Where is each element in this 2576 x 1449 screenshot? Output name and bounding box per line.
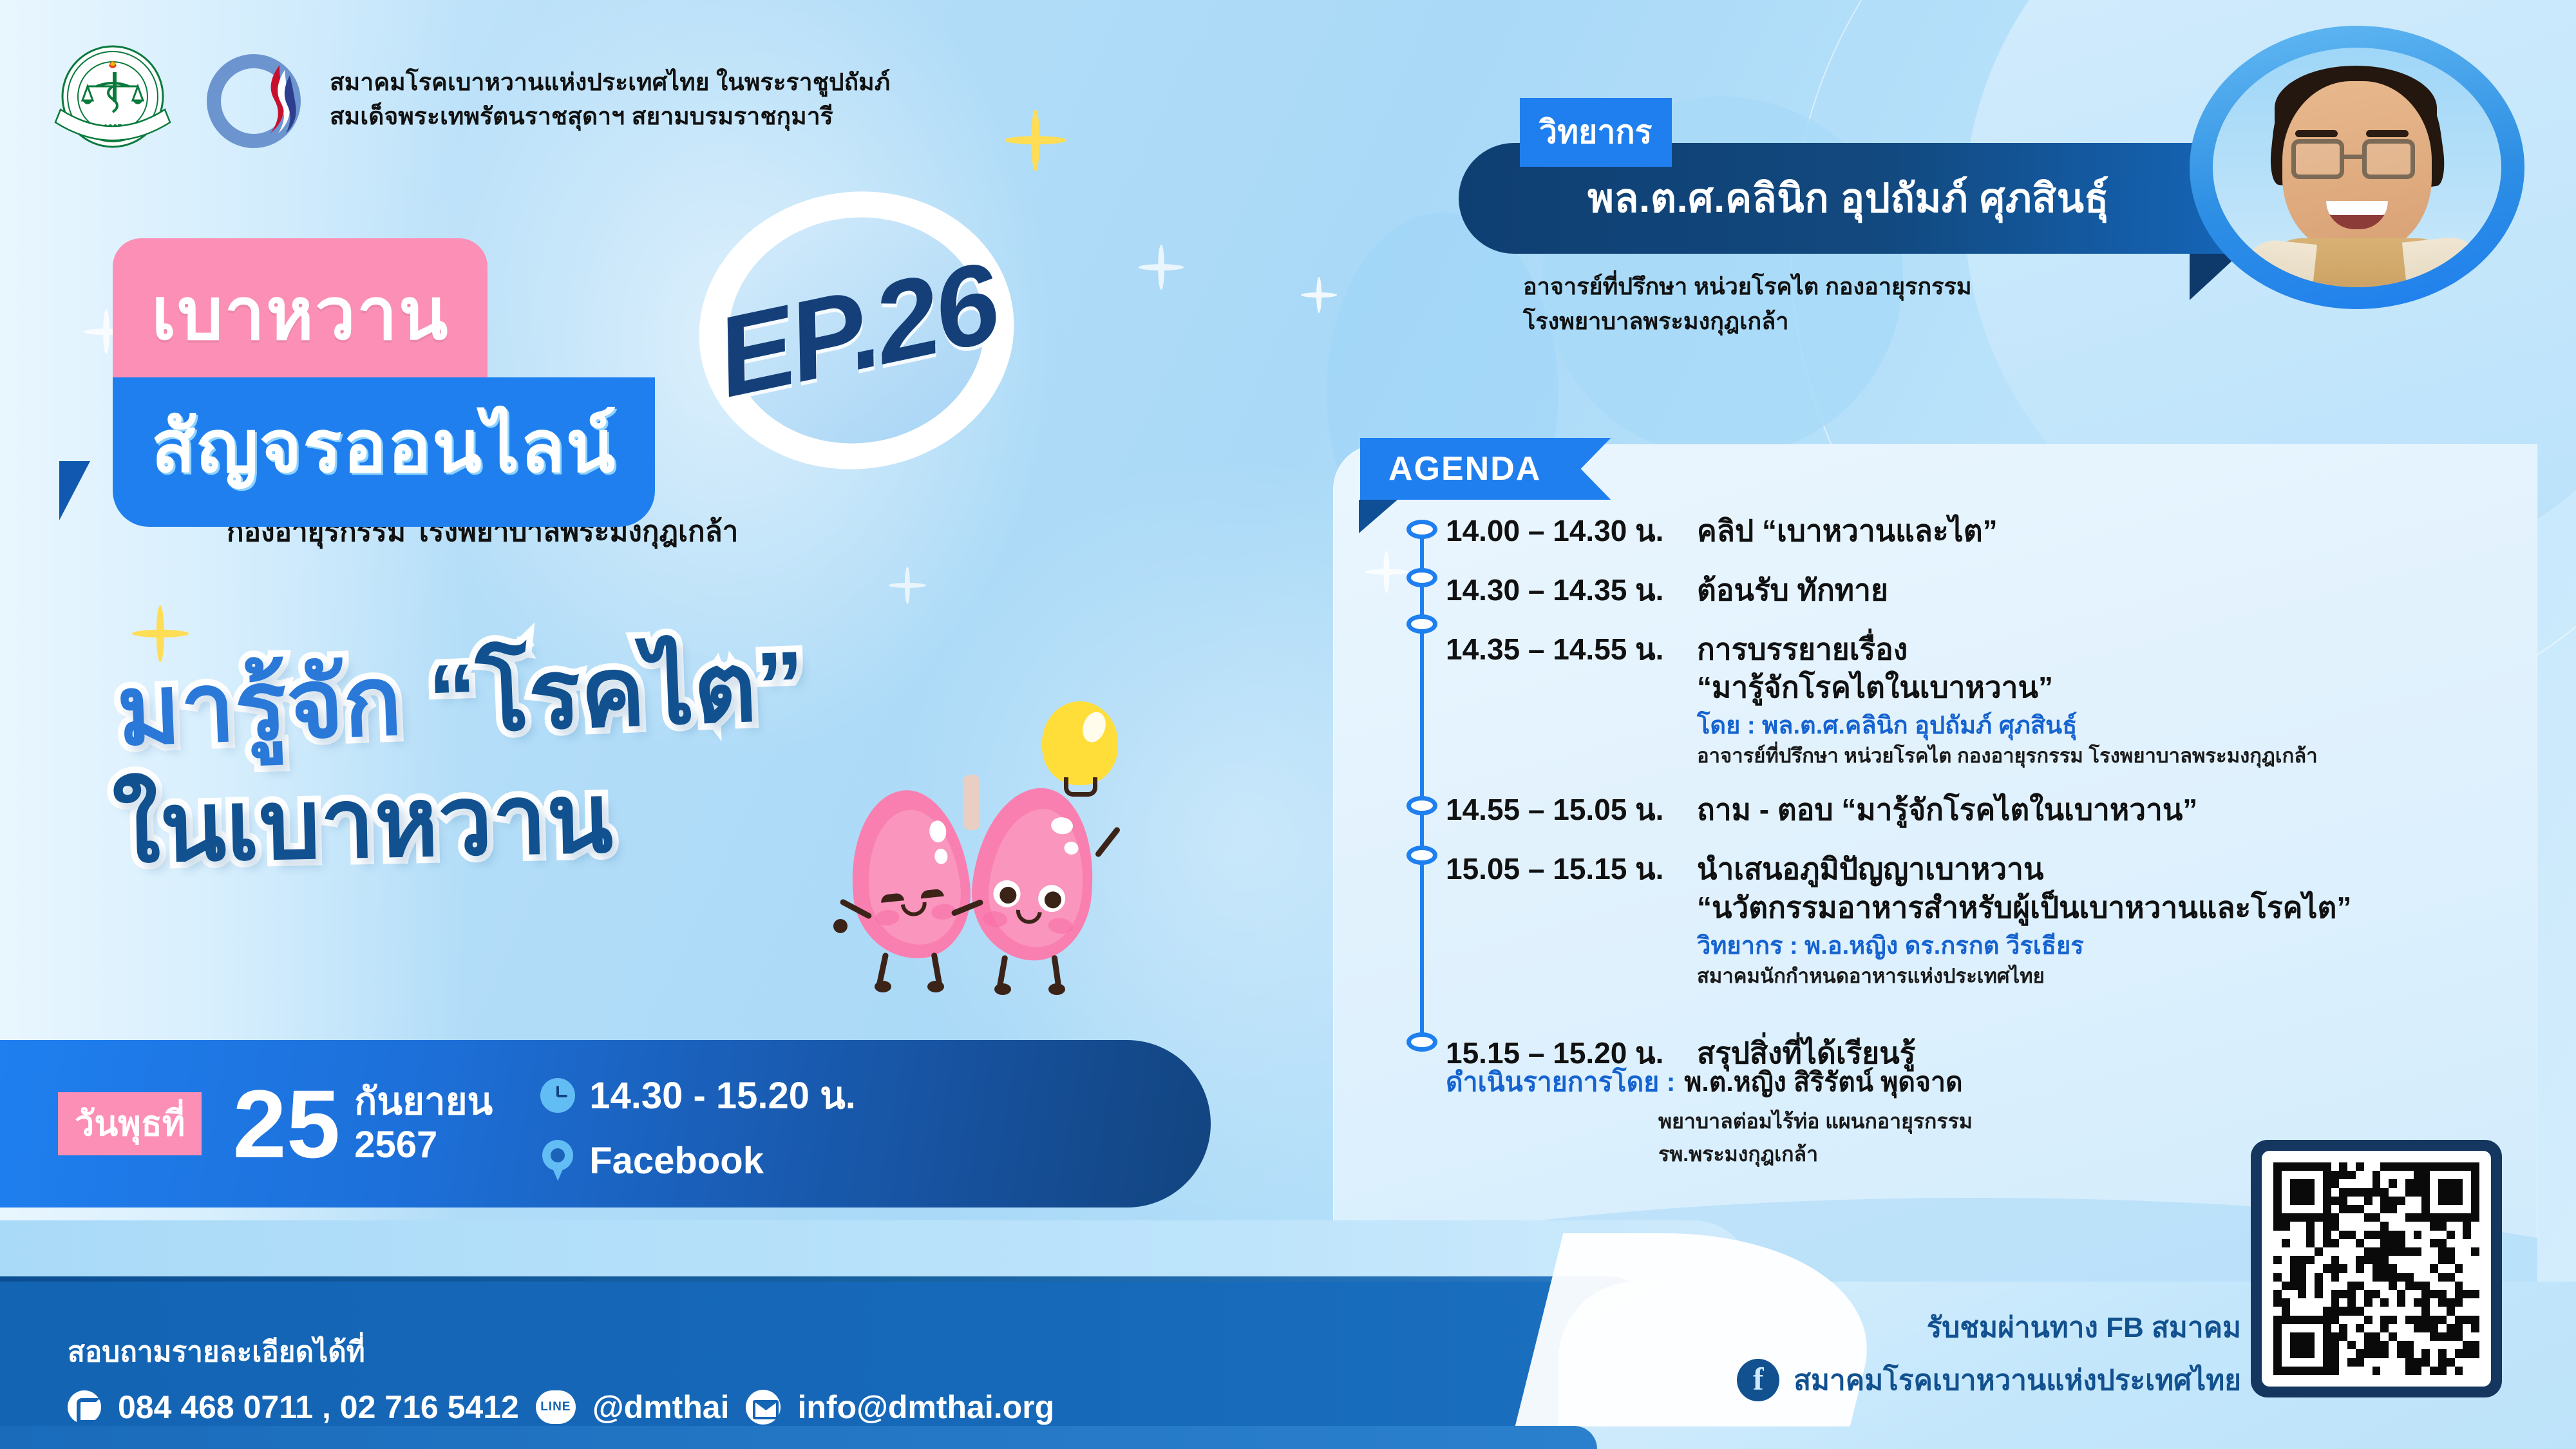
timeline-dot bbox=[1406, 614, 1437, 634]
episode-number: EP.26 bbox=[674, 162, 1040, 498]
footer-contact-block: สอบถามรายละเอียดได้ที่ 084 468 0711 , 02… bbox=[68, 1329, 1054, 1426]
qr-code[interactable] bbox=[2251, 1140, 2502, 1397]
speaker-role-line-2: โรงพยาบาลพระมงกุฎเกล้า bbox=[1523, 304, 1972, 339]
poster-canvas: 1965 สมาคมโรคเบาหวานแห่งประเทศไทย ในพระร… bbox=[0, 0, 2576, 1449]
timeline-dot bbox=[1406, 520, 1437, 539]
event-time: 14.30 - 15.20 น. bbox=[589, 1065, 856, 1125]
agenda-speaker-affiliation: อาจารย์ที่ปรึกษา หน่วยโรคไต กองอายุรกรรม… bbox=[1697, 743, 2553, 770]
moderator-affiliation-1: พยาบาลต่อมไร้ท่อ แผนกอายุรกรรม bbox=[1658, 1107, 2541, 1136]
diabetes-association-of-thailand-logo: 1965 bbox=[45, 32, 180, 167]
moderator-label: ดำเนินรายการโดย : bbox=[1446, 1061, 1675, 1103]
watch-line-1: รับชมผ่านทาง FB สมาคม bbox=[1737, 1305, 2241, 1350]
contact-row: 084 468 0711 , 02 716 5412 LINE @dmthai … bbox=[68, 1388, 1054, 1426]
title-blue-pill: สัญจรออนไลน์ bbox=[113, 377, 655, 527]
speaker-role: อาจารย์ที่ปรึกษา หน่วยโรคไต กองอายุรกรรม… bbox=[1523, 269, 1972, 339]
mascot-foot bbox=[875, 981, 891, 992]
trachea-shape bbox=[963, 775, 980, 830]
line-badge-text: LINE bbox=[540, 1400, 571, 1414]
event-channel: Facebook bbox=[589, 1139, 764, 1182]
pin-hole bbox=[551, 1148, 565, 1162]
contact-heading: สอบถามรายละเอียดได้ที่ bbox=[68, 1329, 1054, 1374]
agenda-spacer bbox=[1446, 833, 2553, 850]
mail-icon bbox=[746, 1390, 781, 1425]
lungs-mascot-illustration bbox=[837, 692, 1140, 995]
speaker-role-line-1: อาจารย์ที่ปรึกษา หน่วยโรคไต กองอายุรกรรม bbox=[1523, 269, 1972, 304]
agenda-title: คลิป “เบาหวานและไต” bbox=[1697, 512, 2553, 551]
timeline-dot bbox=[1406, 1032, 1437, 1052]
agenda-item-2: 14.30 – 14.35 น. ต้อนรับ ทักทาย bbox=[1446, 571, 2553, 610]
agenda-list: 14.00 – 14.30 น. คลิป “เบาหวานและไต” 14.… bbox=[1446, 512, 2553, 1077]
agenda-body: การบรรยายเรื่อง “มารู้จักโรคไตในเบาหวาน”… bbox=[1697, 630, 2553, 771]
date-month-year: กันยายน 2567 bbox=[354, 1081, 493, 1166]
agenda-body: ถาม - ตอบ “มารู้จักโรคไตในเบาหวาน” bbox=[1697, 791, 2553, 829]
sparkle-icon bbox=[1139, 245, 1184, 290]
qr-code-modules bbox=[2273, 1162, 2479, 1375]
headline-line-1-b: “โรคไต” bbox=[426, 630, 806, 753]
qr-code-inner bbox=[2262, 1151, 2491, 1387]
speaker-vest-left bbox=[2239, 238, 2317, 287]
episode-badge: EP.26 bbox=[699, 192, 1014, 469]
speaker-eyebrow bbox=[2366, 130, 2409, 137]
phone-icon bbox=[68, 1390, 101, 1424]
watch-line-2-row: สมาคมโรคเบาหวานแห่งประเทศไทย bbox=[1737, 1358, 2241, 1403]
agenda-body: คลิป “เบาหวานและไต” bbox=[1697, 512, 2553, 551]
agenda-speaker: โดย : พล.ต.ศ.คลินิก อุปถัมภ์ ศุภสินธุ์ bbox=[1697, 710, 2553, 743]
thailand-diabetes-network-logo bbox=[197, 42, 313, 158]
pin-tip bbox=[549, 1162, 566, 1181]
speaker-name: พล.ต.ศ.คลินิก อุปถัมภ์ ศุภสินธุ์ bbox=[1587, 167, 2109, 230]
title-ribbon-fold bbox=[59, 461, 90, 520]
agenda-title: ต้อนรับ ทักทาย bbox=[1697, 571, 2553, 610]
agenda-time: 14.55 – 15.05 น. bbox=[1446, 791, 1697, 829]
agenda-spacer bbox=[1446, 614, 2553, 630]
agenda-title-line-2: “นวัตกรรมอาหารสำหรับผู้เป็นเบาหวานและโรค… bbox=[1697, 889, 2553, 927]
agenda-tag: AGENDA bbox=[1360, 438, 1611, 500]
timeline-dot bbox=[1406, 846, 1437, 865]
agenda-body: นำเสนอภูมิปัญญาเบาหวาน “นวัตกรรมอาหารสำห… bbox=[1697, 850, 2553, 990]
speaker-teeth bbox=[2326, 201, 2388, 215]
sparkle-icon bbox=[1301, 277, 1337, 313]
org-line-2: สมเด็จพระเทพรัตนราชสุดาฯ สยามบรมราชกุมาร… bbox=[330, 100, 890, 134]
speaker-tag-label: วิทยากร bbox=[1520, 98, 1672, 167]
moderator-name: พ.ต.หญิง สิริรัตน์ พุดจาด bbox=[1684, 1061, 1962, 1103]
contact-line-id[interactable]: @dmthai bbox=[592, 1388, 730, 1426]
timeline-dot bbox=[1406, 568, 1437, 587]
agenda-body: ต้อนรับ ทักทาย bbox=[1697, 571, 2553, 610]
footer-watch-block: รับชมผ่านทาง FB สมาคม สมาคมโรคเบาหวานแห่… bbox=[1737, 1305, 2241, 1403]
speaker-photo-inner bbox=[2213, 48, 2501, 287]
timeline-dot bbox=[1406, 796, 1437, 815]
agenda-time: 15.05 – 15.15 น. bbox=[1446, 850, 1697, 888]
speaker-glasses-bridge bbox=[2344, 155, 2362, 159]
title-blue-label: สัญจรออนไลน์ bbox=[151, 406, 616, 487]
org-line-1: สมาคมโรคเบาหวานแห่งประเทศไทย ในพระราชูปถ… bbox=[330, 66, 890, 100]
agenda-flag-label: AGENDA bbox=[1360, 438, 1611, 500]
agenda-item-3: 14.35 – 14.55 น. การบรรยายเรื่อง “มารู้จ… bbox=[1446, 630, 2553, 771]
agenda-title: ถาม - ตอบ “มารู้จักโรคไตในเบาหวาน” bbox=[1697, 791, 2553, 829]
weekday-chip: วันพุธที่ bbox=[58, 1092, 202, 1155]
agenda-item-1: 14.00 – 14.30 น. คลิป “เบาหวานและไต” bbox=[1446, 512, 2553, 551]
organization-name: สมาคมโรคเบาหวานแห่งประเทศไทย ในพระราชูปถ… bbox=[330, 66, 890, 133]
clock-icon bbox=[540, 1078, 575, 1113]
lightbulb-neck bbox=[1064, 777, 1097, 797]
watch-line-2[interactable]: สมาคมโรคเบาหวานแห่งประเทศไทย bbox=[1794, 1358, 2241, 1403]
agenda-title-line-2: “มารู้จักโรคไตในเบาหวาน” bbox=[1697, 668, 2553, 707]
contact-email[interactable]: info@dmthai.org bbox=[797, 1388, 1054, 1426]
agenda-time: 14.30 – 14.35 น. bbox=[1446, 571, 1697, 609]
date-time-banner: วันพุธที่ 25 กันยายน 2567 14.30 - 15.20 … bbox=[0, 1040, 1211, 1207]
speaker-eyebrow bbox=[2295, 130, 2338, 137]
sparkle-icon bbox=[1365, 551, 1408, 593]
date-year: 2567 bbox=[354, 1124, 493, 1167]
time-and-channel: 14.30 - 15.20 น. Facebook bbox=[540, 1065, 856, 1182]
mascot-foot bbox=[927, 981, 944, 992]
sparkle-icon bbox=[889, 567, 926, 604]
location-pin-icon bbox=[540, 1140, 575, 1182]
agenda-spacer bbox=[1446, 994, 2553, 1034]
title-pink-label: เบาหวาน bbox=[151, 274, 449, 354]
headline-line-1-a: มารู้จัก bbox=[115, 645, 430, 764]
time-row: 14.30 - 15.20 น. bbox=[540, 1065, 856, 1125]
sparkle-icon bbox=[1005, 109, 1066, 171]
moderator-line: ดำเนินรายการโดย : พ.ต.หญิง สิริรัตน์ พุด… bbox=[1446, 1061, 2541, 1103]
speaker-glasses-right bbox=[2362, 139, 2415, 179]
agenda-title-line-1: นำเสนอภูมิปัญญาเบาหวาน bbox=[1697, 850, 2553, 889]
footer-edge-strip bbox=[0, 1426, 1597, 1449]
agenda-time: 14.35 – 14.55 น. bbox=[1446, 630, 1697, 668]
header-logos-and-org: 1965 สมาคมโรคเบาหวานแห่งประเทศไทย ในพระร… bbox=[45, 32, 890, 167]
date-day-number: 25 bbox=[232, 1075, 340, 1172]
line-icon: LINE bbox=[536, 1390, 576, 1424]
mascot-hand bbox=[833, 919, 848, 933]
right-lung-inner bbox=[983, 804, 1091, 951]
agenda-spacer bbox=[1446, 774, 2553, 791]
mascot-foot bbox=[994, 983, 1011, 995]
agenda-speaker: วิทยากร : พ.อ.หญิง ดร.กรกต วีรเธียร bbox=[1697, 930, 2553, 963]
agenda-speaker-affiliation: สมาคมนักกำหนดอาหารแห่งประเทศไทย bbox=[1697, 963, 2553, 990]
mascot-arm bbox=[1094, 826, 1121, 858]
speaker-glasses-left bbox=[2291, 139, 2344, 179]
channel-row: Facebook bbox=[540, 1139, 856, 1182]
mascot-foot bbox=[1048, 983, 1065, 995]
agenda-spacer bbox=[1446, 554, 2553, 571]
lightbulb-icon bbox=[1042, 701, 1118, 785]
right-lung-character bbox=[965, 782, 1103, 966]
left-lung-character bbox=[843, 784, 977, 965]
contact-phone[interactable]: 084 468 0711 , 02 716 5412 bbox=[118, 1388, 519, 1426]
speaker-photo bbox=[2177, 19, 2537, 316]
agenda-timeline-line bbox=[1420, 525, 1424, 1040]
agenda-title-line-1: การบรรยายเรื่อง bbox=[1697, 630, 2553, 669]
agenda-item-5: 15.05 – 15.15 น. นำเสนอภูมิปัญญาเบาหวาน … bbox=[1446, 850, 2553, 990]
agenda-time: 14.00 – 14.30 น. bbox=[1446, 512, 1697, 550]
facebook-icon[interactable] bbox=[1737, 1359, 1779, 1401]
agenda-flag-fold bbox=[1359, 500, 1397, 533]
agenda-item-4: 14.55 – 15.05 น. ถาม - ตอบ “มารู้จักโรคไ… bbox=[1446, 791, 2553, 829]
title-pink-pill: เบาหวาน bbox=[113, 238, 488, 381]
date-month: กันยายน bbox=[354, 1081, 493, 1124]
left-lung-inner bbox=[861, 806, 966, 949]
